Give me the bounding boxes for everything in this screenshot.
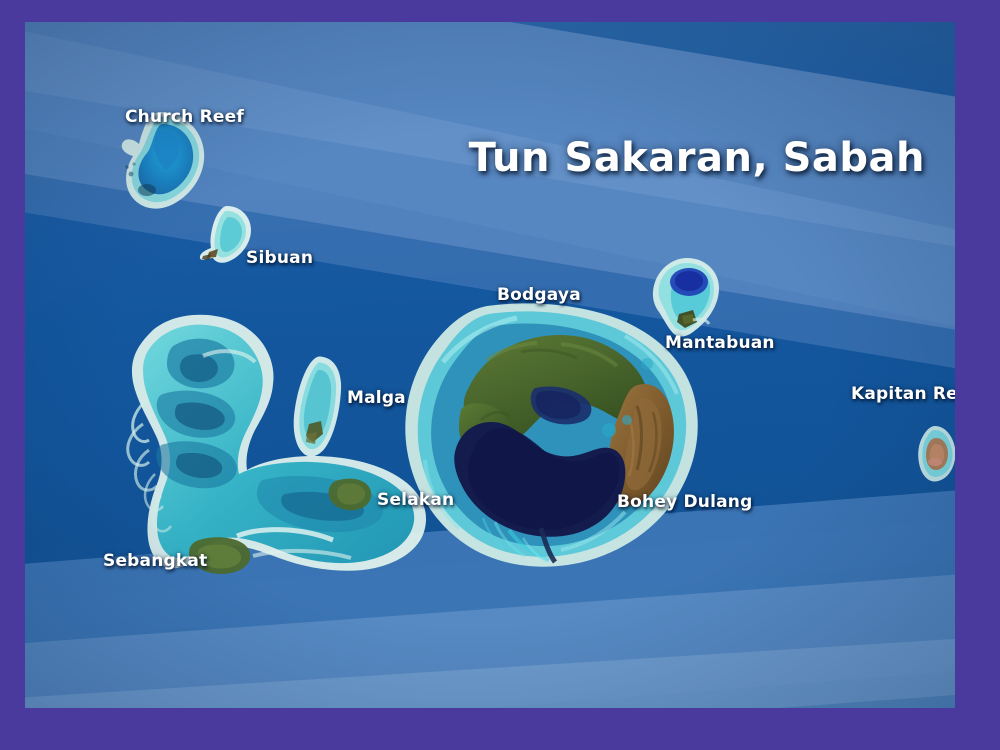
map-title: Tun Sakaran, Sabah <box>469 135 925 181</box>
label-kapitan-reef: Kapitan Reef <box>851 384 955 404</box>
label-sebangkat: Sebangkat <box>103 551 207 571</box>
label-bodgaya: Bodgaya <box>497 285 581 305</box>
label-bohey-dulang: Bohey Dulang <box>617 492 752 512</box>
label-selakan: Selakan <box>377 490 454 510</box>
label-sibuan: Sibuan <box>246 248 313 268</box>
label-malga: Malga <box>347 388 406 408</box>
map-frame: Tun Sakaran, Sabah Church Reef Sibuan Bo… <box>0 0 1000 750</box>
label-church-reef: Church Reef <box>125 107 244 127</box>
island-kapitan-reef[interactable] <box>913 422 955 486</box>
label-mantabuan: Mantabuan <box>665 333 775 353</box>
map-canvas: Tun Sakaran, Sabah Church Reef Sibuan Bo… <box>25 22 955 708</box>
island-mantabuan[interactable] <box>645 252 729 344</box>
